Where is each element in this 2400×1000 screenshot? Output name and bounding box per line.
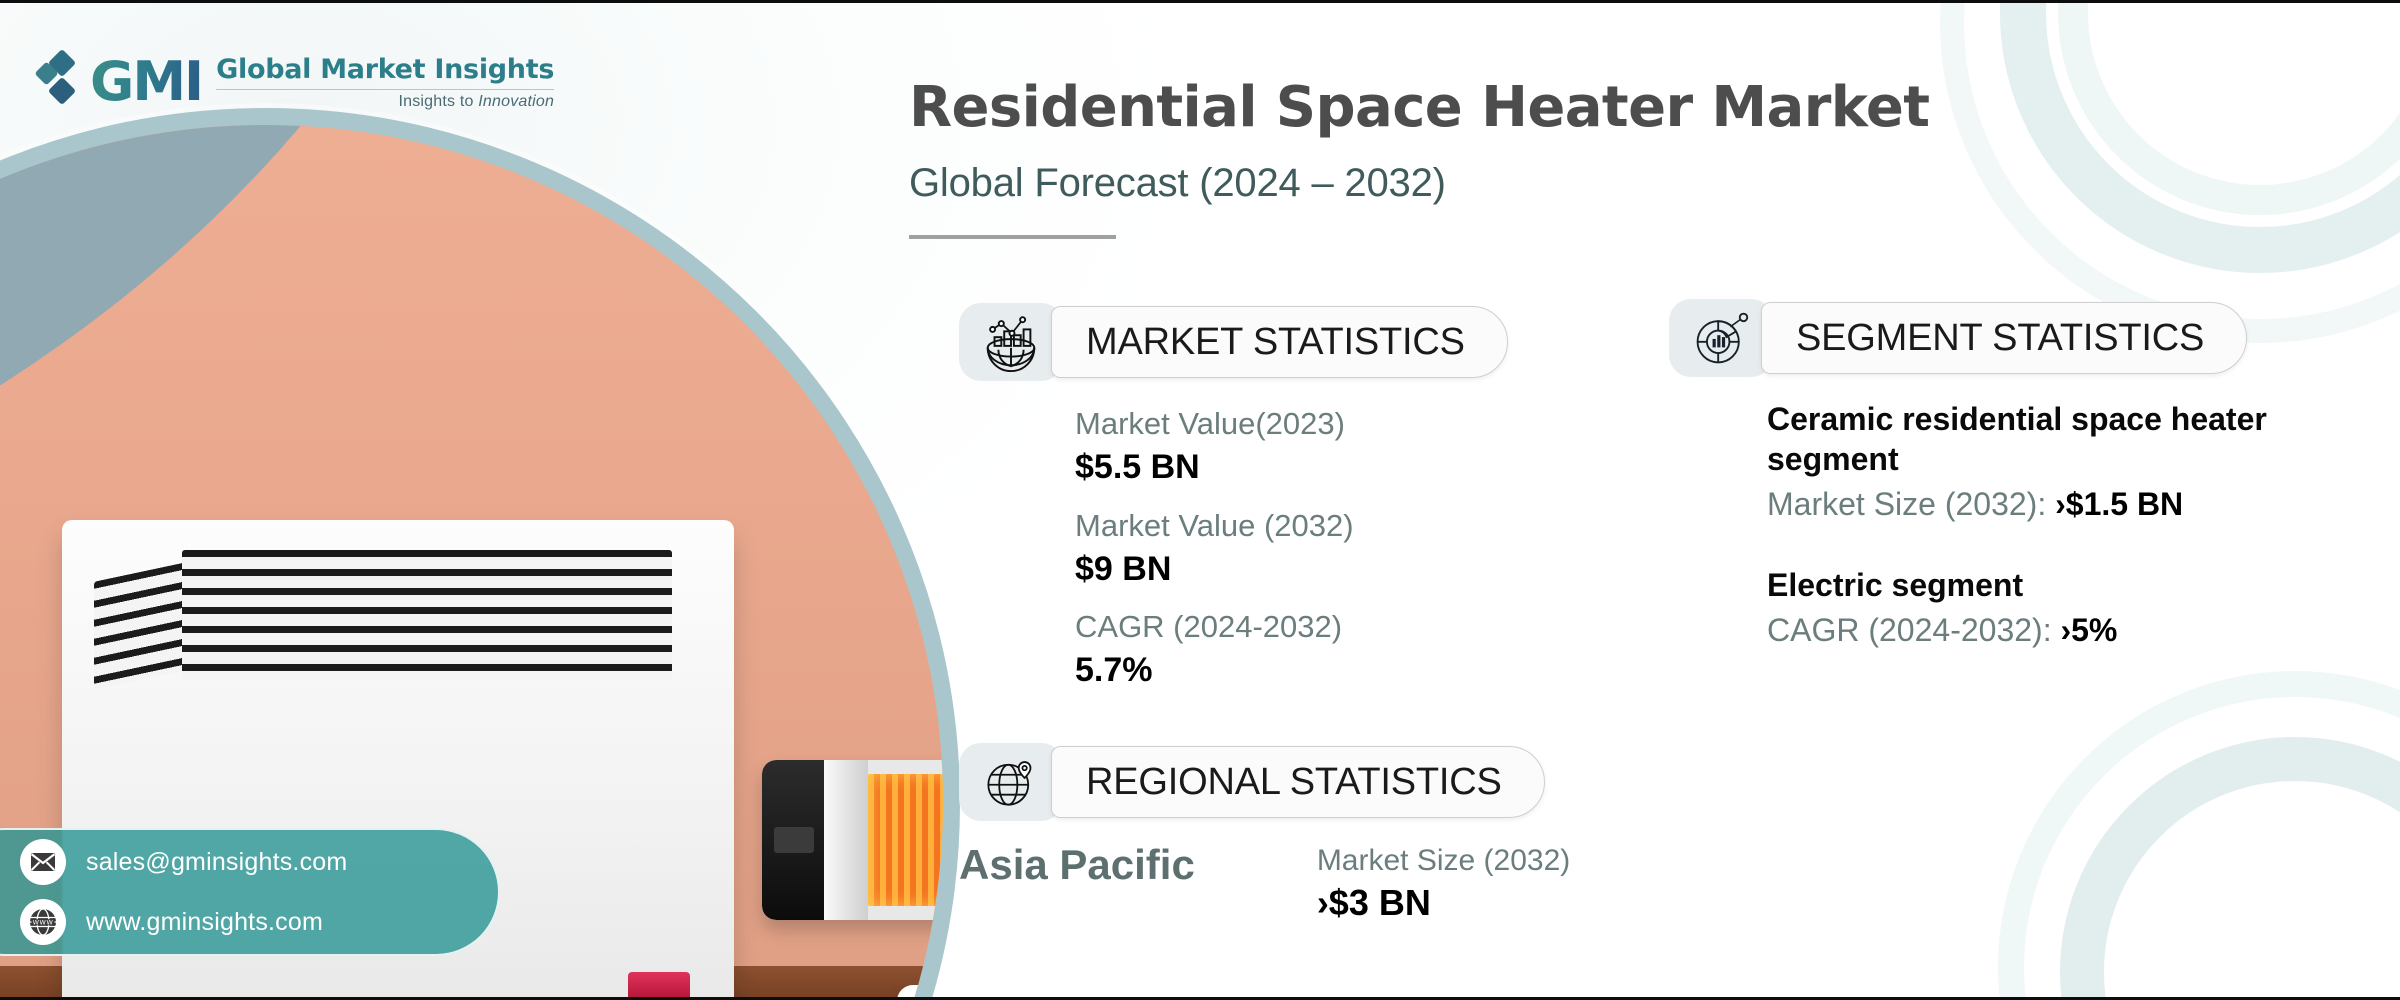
market-statistics-header: MARKET STATISTICS [959,303,1508,381]
logo-tagline-pre: Insights to [398,93,478,110]
electric-segment-line: CAGR (2024-2032): ›5% [1767,610,2400,652]
logo-mark-text: GMI [90,55,202,109]
market-statistics-pill: MARKET STATISTICS [1051,306,1508,378]
contact-pill: sales@gminsights.com WWW www.gminsights.… [0,828,500,956]
region-name: Asia Pacific [959,841,1195,888]
donut-chart-icon [1669,299,1773,377]
contact-email-text: sales@gminsights.com [86,848,347,877]
svg-text:WWW: WWW [33,918,54,926]
electric-segment-value: ›5% [2060,612,2117,648]
region-metric-value: ›$3 BN [1317,880,1570,925]
market-statistics-body: Market Value(2023) $5.5 BN Market Value … [1075,403,1354,708]
market-value-2023-label: Market Value(2023) [1075,403,1354,445]
regional-statistics-body: Asia Pacific Market Size (2032) ›$3 BN [959,841,1570,925]
segment-statistics-pill: SEGMENT STATISTICS [1761,302,2247,374]
contact-email-row[interactable]: sales@gminsights.com [20,839,498,885]
segment-statistics-body: Ceramic residential space heater segment… [1767,399,2400,651]
page-subtitle: Global Forecast (2024 – 2032) [909,161,1446,206]
market-value-2023-value: $5.5 BN [1075,445,1354,491]
electric-segment-label: CAGR (2024-2032): [1767,612,2060,648]
regional-statistics-label: REGIONAL STATISTICS [1086,761,1502,804]
regional-statistics-pill: REGIONAL STATISTICS [1051,746,1545,818]
market-value-2032-label: Market Value (2032) [1075,505,1354,547]
regional-statistics-header: REGIONAL STATISTICS [959,743,1545,821]
logo-diamonds-icon [36,51,76,113]
infrared-end-cap [762,760,824,920]
ceramic-segment-line: Market Size (2032): ›$1.5 BN [1767,484,2400,526]
cagr-label: CAGR (2024-2032) [1075,606,1354,648]
gmi-logo[interactable]: GMI Global Market Insights Insights to I… [36,51,554,113]
www-globe-icon: WWW [20,899,66,945]
infographic-canvas: sales@gminsights.com WWW www.gminsights.… [0,0,2400,1000]
ceramic-segment-title: Ceramic residential space heater segment [1767,399,2400,480]
page-title: Residential Space Heater Market [909,75,1929,140]
globe-pin-icon [959,743,1063,821]
title-underline [909,235,1116,239]
contact-website-row[interactable]: WWW www.gminsights.com [20,899,498,945]
logo-tagline-emphasis: Innovation [478,93,554,110]
cagr-value: 5.7% [1075,648,1354,694]
segment-spacer [1767,525,2400,565]
convector-indicator [628,972,690,1000]
convector-vent-main [182,550,672,680]
logo-wordmark: Global Market Insights Insights to Innov… [216,54,554,111]
convector-vent-left [94,562,186,690]
market-statistics-label: MARKET STATISTICS [1086,321,1465,364]
logo-tagline: Insights to Innovation [216,93,554,111]
segment-statistics-header: SEGMENT STATISTICS [1669,299,2247,377]
electric-segment-title: Electric segment [1767,565,2400,605]
region-metric-label: Market Size (2032) [1317,841,1570,880]
ceramic-segment-value: ›$1.5 BN [2055,486,2183,522]
logo-company-name: Global Market Insights [216,54,554,85]
globe-bar-chart-icon [959,303,1063,381]
ceramic-segment-label: Market Size (2032): [1767,486,2055,522]
market-value-2032-value: $9 BN [1075,547,1354,593]
content-panel: Residential Space Heater Market Global F… [905,3,2400,1000]
segment-statistics-label: SEGMENT STATISTICS [1796,317,2204,360]
logo-divider [216,89,554,90]
contact-website-text: www.gminsights.com [86,908,323,937]
infrared-silver-band [824,760,868,920]
envelope-icon [20,839,66,885]
region-metric: Market Size (2032) ›$3 BN [1317,841,1570,925]
